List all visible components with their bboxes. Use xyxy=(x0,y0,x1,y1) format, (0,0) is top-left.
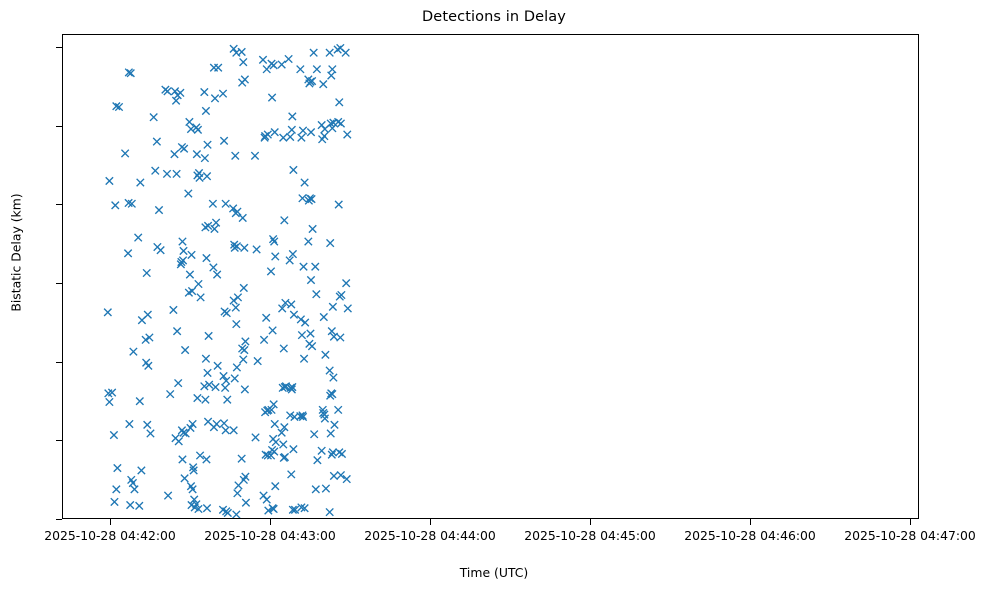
scatter-point xyxy=(240,476,247,483)
scatter-point xyxy=(272,253,279,260)
scatter-point xyxy=(212,383,219,390)
scatter-point xyxy=(124,250,131,257)
scatter-point xyxy=(177,89,184,96)
scatter-point xyxy=(189,486,196,493)
scatter-point xyxy=(222,427,229,434)
scatter-point xyxy=(172,97,179,104)
scatter-point xyxy=(110,431,117,438)
scatter-point xyxy=(224,396,231,403)
scatter-point xyxy=(297,316,304,323)
scatter-point xyxy=(240,284,247,291)
scatter-point xyxy=(186,118,193,125)
scatter-point xyxy=(222,200,229,207)
scatter-point xyxy=(299,195,306,202)
scatter-point xyxy=(152,167,159,174)
scatter-point xyxy=(106,177,113,184)
plot-axes-frame xyxy=(62,34,919,519)
scatter-point xyxy=(327,430,334,437)
scatter-point xyxy=(326,508,333,515)
scatter-point xyxy=(238,455,245,462)
scatter-point xyxy=(230,427,237,434)
scatter-series xyxy=(63,35,919,519)
x-axis-label: Time (UTC) xyxy=(0,565,988,580)
scatter-point xyxy=(204,141,211,148)
scatter-point xyxy=(220,137,227,144)
scatter-point xyxy=(203,173,210,180)
scatter-point xyxy=(313,291,320,298)
scatter-point xyxy=(170,306,177,313)
y-axis-label: Bistatic Delay (km) xyxy=(9,133,24,373)
scatter-point xyxy=(129,479,136,486)
scatter-point xyxy=(259,56,266,63)
scatter-point xyxy=(163,170,170,177)
scatter-point xyxy=(271,420,278,427)
scatter-point xyxy=(307,330,314,337)
scatter-point xyxy=(187,125,194,132)
scatter-point xyxy=(270,62,277,69)
scatter-point xyxy=(344,131,351,138)
scatter-point xyxy=(185,289,192,296)
scatter-point xyxy=(180,145,187,152)
scatter-point xyxy=(233,511,240,518)
scatter-point xyxy=(288,471,295,478)
scatter-point xyxy=(298,331,305,338)
scatter-point xyxy=(180,247,187,254)
scatter-point xyxy=(241,76,248,83)
scatter-point xyxy=(179,238,186,245)
scatter-point xyxy=(344,305,351,312)
scatter-point xyxy=(186,271,193,278)
scatter-point xyxy=(322,485,329,492)
scatter-point xyxy=(297,66,304,73)
scatter-point xyxy=(312,486,319,493)
scatter-point xyxy=(195,280,202,287)
scatter-point xyxy=(239,214,246,221)
scatter-point xyxy=(280,134,287,141)
scatter-point xyxy=(221,384,228,391)
scatter-point xyxy=(307,276,314,283)
scatter-point xyxy=(153,138,160,145)
scatter-point xyxy=(233,364,240,371)
scatter-point xyxy=(175,379,182,386)
scatter-point xyxy=(136,398,143,405)
scatter-point xyxy=(145,362,152,369)
scatter-point xyxy=(251,152,258,159)
scatter-point xyxy=(242,338,249,345)
scatter-point xyxy=(230,297,237,304)
scatter-point xyxy=(330,472,337,479)
scatter-point xyxy=(138,467,145,474)
scatter-point xyxy=(214,362,221,369)
y-axis-tick-mark xyxy=(56,519,62,520)
scatter-point xyxy=(137,179,144,186)
scatter-point xyxy=(290,166,297,173)
scatter-point xyxy=(253,246,260,253)
scatter-point xyxy=(157,246,164,253)
scatter-point xyxy=(336,99,343,106)
scatter-point xyxy=(260,336,267,343)
scatter-point xyxy=(131,486,138,493)
scatter-point xyxy=(147,430,154,437)
scatter-point xyxy=(106,398,113,405)
scatter-point xyxy=(320,313,327,320)
scatter-point xyxy=(234,490,241,497)
scatter-point xyxy=(196,174,203,181)
scatter-point xyxy=(143,269,150,276)
scatter-point xyxy=(252,434,259,441)
scatter-point xyxy=(335,406,342,413)
scatter-point xyxy=(126,420,133,427)
scatter-point xyxy=(164,88,171,95)
scatter-point xyxy=(155,206,162,213)
scatter-point xyxy=(211,95,218,102)
scatter-point xyxy=(313,66,320,73)
scatter-point xyxy=(136,502,143,509)
scatter-point xyxy=(201,154,208,161)
scatter-point xyxy=(306,340,313,347)
scatter-point xyxy=(194,394,201,401)
scatter-point xyxy=(271,128,278,135)
scatter-point xyxy=(127,501,134,508)
scatter-point xyxy=(167,390,174,397)
scatter-point xyxy=(213,420,220,427)
scatter-point xyxy=(311,431,318,438)
scatter-point xyxy=(281,217,288,224)
scatter-point xyxy=(314,457,321,464)
scatter-point xyxy=(223,309,230,316)
scatter-point xyxy=(144,421,151,428)
scatter-point xyxy=(171,151,178,158)
x-axis-tick-mark xyxy=(590,519,591,525)
scatter-point xyxy=(327,239,334,246)
scatter-point xyxy=(112,202,119,209)
scatter-point xyxy=(320,80,327,87)
scatter-point xyxy=(263,496,270,503)
scatter-point xyxy=(301,179,308,186)
scatter-point xyxy=(331,421,338,428)
scatter-point xyxy=(231,375,238,382)
scatter-point xyxy=(321,132,328,139)
scatter-point xyxy=(337,334,344,341)
scatter-point xyxy=(181,346,188,353)
scatter-point xyxy=(241,244,248,251)
scatter-point xyxy=(310,49,317,56)
scatter-point xyxy=(179,456,186,463)
scatter-point xyxy=(203,254,210,261)
x-axis-tick-mark xyxy=(270,519,271,525)
scatter-point xyxy=(301,319,308,326)
scatter-point xyxy=(326,367,333,374)
scatter-point xyxy=(205,332,212,339)
scatter-point xyxy=(150,114,157,121)
scatter-point xyxy=(144,311,151,318)
scatter-point xyxy=(335,201,342,208)
scatter-point xyxy=(261,409,268,416)
scatter-point xyxy=(171,88,178,95)
scatter-point xyxy=(113,486,120,493)
scatter-point xyxy=(268,94,275,101)
scatter-point xyxy=(212,219,219,226)
scatter-point xyxy=(242,499,249,506)
scatter-point xyxy=(241,386,248,393)
scatter-point xyxy=(121,150,128,157)
scatter-point xyxy=(197,294,204,301)
scatter-point xyxy=(241,346,248,353)
scatter-point xyxy=(233,320,240,327)
scatter-point xyxy=(104,309,111,316)
scatter-point xyxy=(219,90,226,97)
scatter-point xyxy=(288,126,295,133)
scatter-point xyxy=(114,464,121,471)
scatter-point xyxy=(194,126,201,133)
scatter-point xyxy=(278,61,285,68)
scatter-point xyxy=(240,58,247,65)
scatter-point xyxy=(203,456,210,463)
scatter-point xyxy=(173,328,180,335)
scatter-point xyxy=(215,64,222,71)
scatter-point xyxy=(309,225,316,232)
scatter-point xyxy=(305,238,312,245)
scatter-point xyxy=(234,294,241,301)
scatter-point xyxy=(232,152,239,159)
x-axis-tick-mark xyxy=(430,519,431,525)
scatter-point xyxy=(230,45,237,52)
scatter-point xyxy=(238,48,245,55)
scatter-point xyxy=(328,72,335,79)
scatter-point xyxy=(146,334,153,341)
scatter-point xyxy=(336,449,343,456)
scatter-point xyxy=(300,355,307,362)
scatter-point xyxy=(232,304,239,311)
page-title: Detections in Delay xyxy=(0,9,988,25)
scatter-points-layer xyxy=(63,35,918,518)
scatter-point xyxy=(290,311,297,318)
scatter-point xyxy=(209,200,216,207)
scatter-point xyxy=(330,374,337,381)
scatter-point xyxy=(318,447,325,454)
scatter-point xyxy=(213,271,220,278)
scatter-point xyxy=(272,482,279,489)
scatter-point xyxy=(322,351,329,358)
scatter-point xyxy=(342,49,349,56)
scatter-point xyxy=(267,268,274,275)
scatter-point xyxy=(285,55,292,62)
scatter-point xyxy=(185,190,192,197)
scatter-point xyxy=(280,345,287,352)
scatter-point xyxy=(254,357,261,364)
scatter-point xyxy=(263,314,270,321)
scatter-point xyxy=(203,505,210,512)
scatter-point xyxy=(240,356,247,363)
scatter-point xyxy=(289,113,296,120)
scatter-point xyxy=(210,264,217,271)
scatter-point xyxy=(175,438,182,445)
scatter-point xyxy=(312,263,319,270)
scatter-point xyxy=(272,438,279,445)
scatter-point xyxy=(201,88,208,95)
scatter-point xyxy=(204,369,211,376)
scatter-point xyxy=(202,396,209,403)
scatter-point xyxy=(300,263,307,270)
scatter-point xyxy=(135,234,142,241)
scatter-point xyxy=(329,303,336,310)
scatter-point xyxy=(326,49,333,56)
scatter-point xyxy=(173,170,180,177)
matplotlib-figure: Detections in Delay Bistatic Delay (km) … xyxy=(0,0,988,590)
scatter-point xyxy=(343,280,350,287)
scatter-point xyxy=(202,107,209,114)
scatter-point xyxy=(196,452,203,459)
x-axis-tick-mark xyxy=(110,519,111,525)
scatter-point xyxy=(220,420,227,427)
scatter-point xyxy=(111,498,118,505)
scatter-point xyxy=(181,475,188,482)
scatter-point xyxy=(288,301,295,308)
scatter-point xyxy=(307,128,314,135)
scatter-point xyxy=(164,492,171,499)
scatter-point xyxy=(287,133,294,140)
scatter-point xyxy=(193,151,200,158)
scatter-point xyxy=(298,134,305,141)
scatter-point xyxy=(188,251,195,258)
scatter-point xyxy=(290,446,297,453)
x-axis-tick-label: 2025-10-28 04:47:00 xyxy=(780,528,988,543)
scatter-point xyxy=(280,441,287,448)
scatter-point xyxy=(202,355,209,362)
scatter-point xyxy=(130,348,137,355)
x-axis-tick-mark xyxy=(910,519,911,525)
scatter-point xyxy=(337,120,344,127)
scatter-point xyxy=(299,127,306,134)
x-axis-tick-mark xyxy=(750,519,751,525)
scatter-point xyxy=(269,327,276,334)
